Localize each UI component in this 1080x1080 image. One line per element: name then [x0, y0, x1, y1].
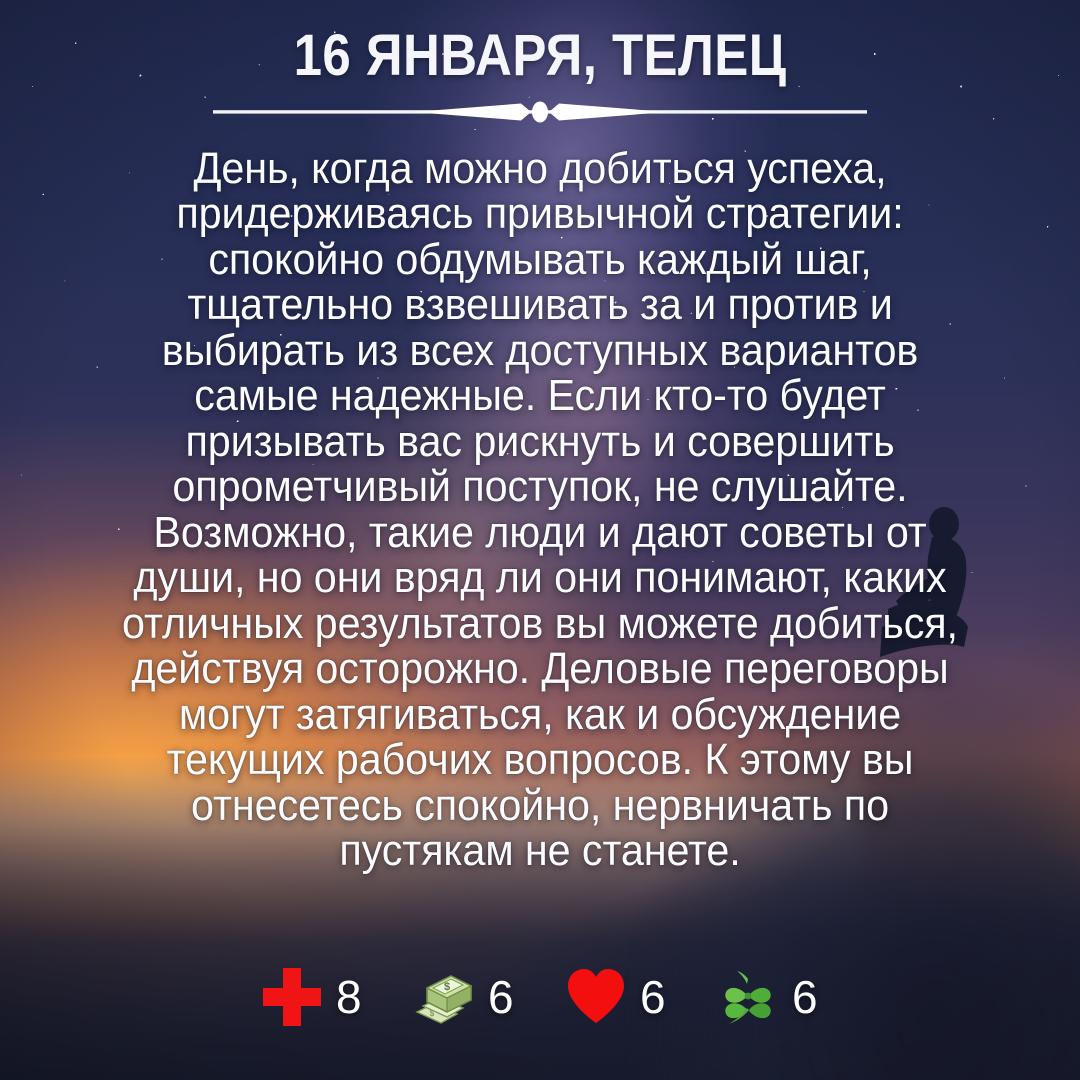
page-title: 16 ЯНВАРЯ, ТЕЛЕЦ	[294, 26, 787, 87]
card-content: 16 ЯНВАРЯ, ТЕЛЕЦ День, когда можно добит…	[0, 0, 1080, 1080]
red-heart-love-icon	[564, 965, 628, 1029]
rating-money: $ $ 6	[412, 965, 516, 1029]
rating-luck: 6	[716, 965, 820, 1029]
horoscope-card: 16 ЯНВАРЯ, ТЕЛЕЦ День, когда можно добит…	[0, 0, 1080, 1080]
money-banknotes-icon: $ $	[412, 965, 476, 1029]
red-cross-health-icon	[260, 965, 324, 1029]
horoscope-forecast-text: День, когда можно добиться успеха, приде…	[122, 147, 958, 875]
rating-health-value: 8	[336, 970, 364, 1024]
rating-health: 8	[260, 965, 364, 1029]
four-leaf-clover-luck-icon	[716, 965, 780, 1029]
diamond-divider-ornament	[213, 99, 867, 125]
svg-text:$: $	[430, 1009, 435, 1018]
ratings-row: 8 $ $ 6	[0, 965, 1080, 1029]
rating-love-value: 6	[640, 970, 668, 1024]
rating-money-value: 6	[488, 970, 516, 1024]
rating-love: 6	[564, 965, 668, 1029]
svg-text:$: $	[444, 981, 450, 993]
rating-luck-value: 6	[792, 970, 820, 1024]
